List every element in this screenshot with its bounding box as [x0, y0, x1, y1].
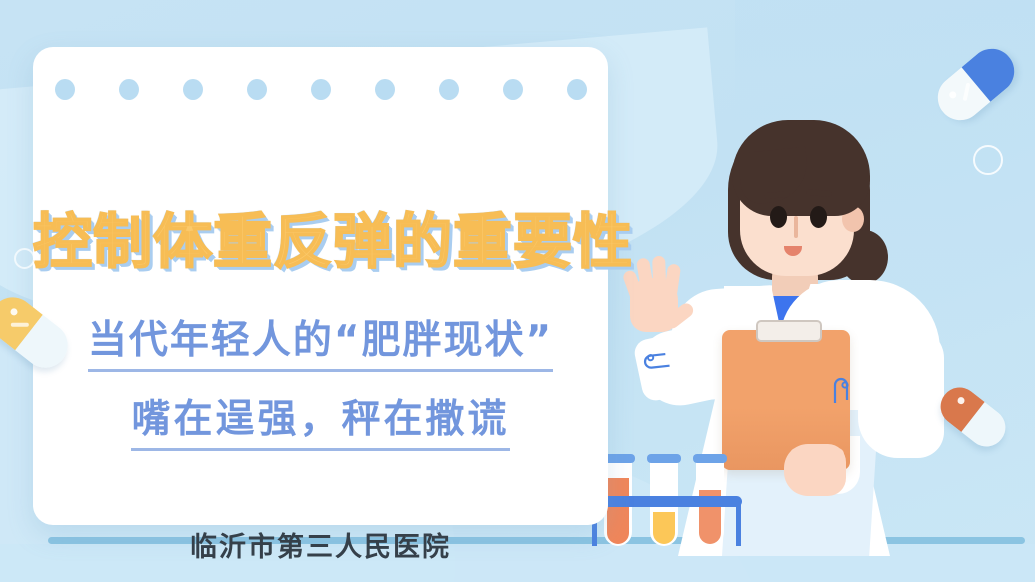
coat-sleeve-right [858, 328, 944, 458]
note-card: 控制体重反弹的重要性 当代年轻人的“肥胖现状” 嘴在逞强，秤在撒谎 临沂市第三人… [33, 47, 608, 525]
organization-name: 临沂市第三人民医院 [33, 525, 608, 564]
eye-right [810, 206, 827, 228]
capsule-highlight [11, 323, 29, 327]
poster-main-title: 控制体重反弹的重要性 [33, 194, 608, 279]
test-tube-liquid [607, 478, 629, 544]
nose [794, 216, 798, 238]
rack-leg [736, 504, 741, 546]
finger [792, 476, 844, 489]
rack-bar [590, 496, 742, 507]
safety-pin-icon [830, 376, 852, 406]
test-tube-rack [596, 448, 766, 558]
poster-subtitle-line-1: 当代年轻人的“肥胖现状” [88, 309, 553, 372]
finger [788, 462, 846, 475]
circle-outline-icon [14, 248, 35, 269]
finger [790, 448, 844, 461]
safety-pin-icon [641, 348, 673, 373]
circle-outline-icon [973, 145, 1003, 175]
poster-canvas: 控制体重反弹的重要性 当代年轻人的“肥胖现状” 嘴在逞强，秤在撒谎 临沂市第三人… [0, 0, 1035, 582]
eye-left [770, 206, 787, 228]
clipboard-clip [756, 320, 822, 342]
poster-subtitle-group: 当代年轻人的“肥胖现状” 嘴在逞强，秤在撒谎 [33, 309, 608, 451]
holding-hand [784, 436, 854, 496]
test-tube-cap [693, 454, 727, 463]
poster-text-block: 控制体重反弹的重要性 当代年轻人的“肥胖现状” 嘴在逞强，秤在撒谎 临沂市第三人… [33, 47, 608, 525]
test-tube-cap [647, 454, 681, 463]
poster-subtitle-line-2: 嘴在逞强，秤在撒谎 [131, 388, 509, 451]
test-tube-liquid [653, 512, 675, 544]
